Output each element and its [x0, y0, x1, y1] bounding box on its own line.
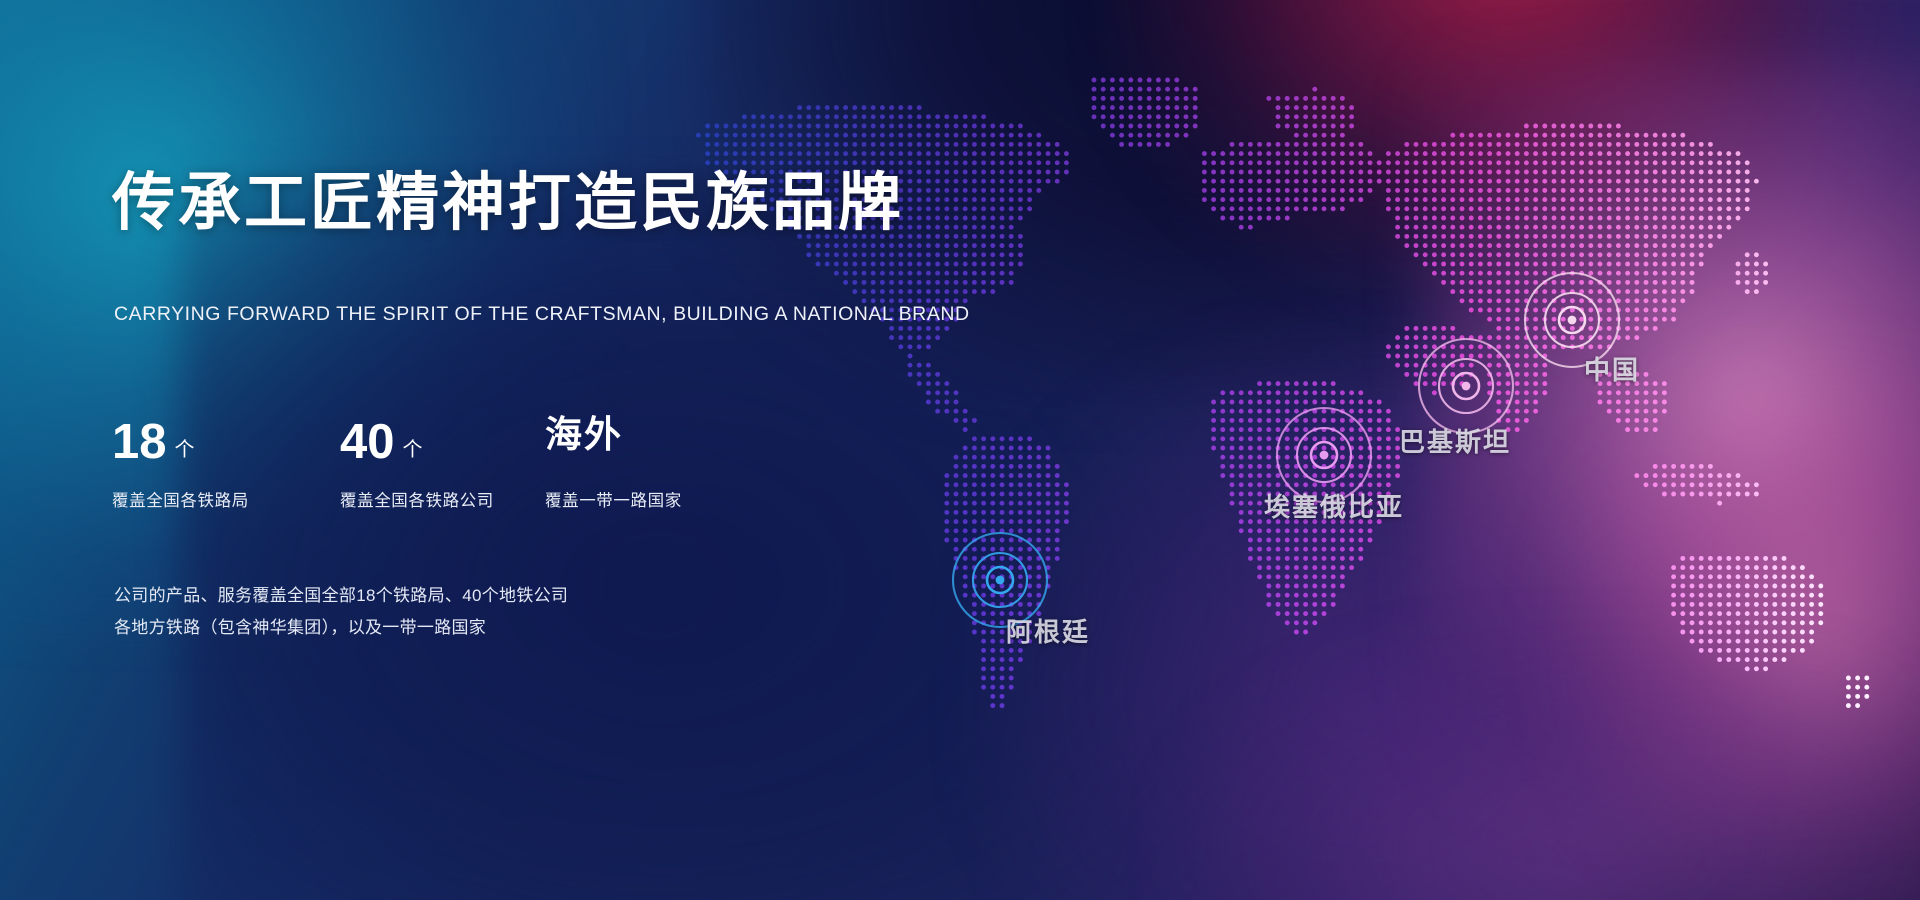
- stat-unit: 个: [175, 433, 195, 462]
- description-line-1: 公司的产品、服务覆盖全国全部18个铁路局、40个地铁公司: [114, 580, 568, 612]
- map-marker-label-china: 中国: [1584, 350, 1640, 387]
- stat-item-railway-bureaus: 18 个 覆盖全国各铁路局: [112, 418, 340, 511]
- stat-value-row: 海外: [545, 418, 682, 474]
- stat-label: 覆盖全国各铁路局: [112, 487, 340, 511]
- map-marker-label-argentina: 阿根廷: [1006, 612, 1090, 649]
- stats-group: 18 个 覆盖全国各铁路局 40 个 覆盖全国各铁路公司 海外 覆盖一带一路国家: [112, 418, 682, 511]
- stat-value: 18: [112, 418, 167, 467]
- stat-value: 40: [340, 418, 395, 467]
- stat-value-row: 40 个: [340, 418, 545, 474]
- stat-item-railway-companies: 40 个 覆盖全国各铁路公司: [340, 418, 545, 511]
- description-text: 公司的产品、服务覆盖全国全部18个铁路局、40个地铁公司 各地方铁路（包含神华集…: [114, 580, 568, 644]
- map-marker-label-ethiopia: 埃塞俄比亚: [1264, 487, 1404, 524]
- stat-value-row: 18 个: [112, 418, 340, 474]
- banner-content: 传承工匠精神打造民族品牌 CARRYING FORWARD THE SPIRIT…: [112, 0, 872, 900]
- stat-value: 海外: [545, 416, 623, 453]
- page-title: 传承工匠精神打造民族品牌: [112, 172, 904, 235]
- page-subtitle: CARRYING FORWARD THE SPIRIT OF THE CRAFT…: [114, 303, 970, 326]
- stat-label: 覆盖一带一路国家: [545, 487, 682, 511]
- description-line-2: 各地方铁路（包含神华集团），以及一带一路国家: [114, 612, 568, 644]
- stat-item-overseas: 海外 覆盖一带一路国家: [545, 418, 682, 511]
- stat-unit: 个: [403, 433, 423, 462]
- banner-stage: 中国巴基斯坦埃塞俄比亚阿根廷 传承工匠精神打造民族品牌 CARRYING FOR…: [0, 0, 1920, 900]
- map-marker-label-pakistan: 巴基斯坦: [1399, 422, 1511, 459]
- stat-label: 覆盖全国各铁路公司: [340, 487, 545, 511]
